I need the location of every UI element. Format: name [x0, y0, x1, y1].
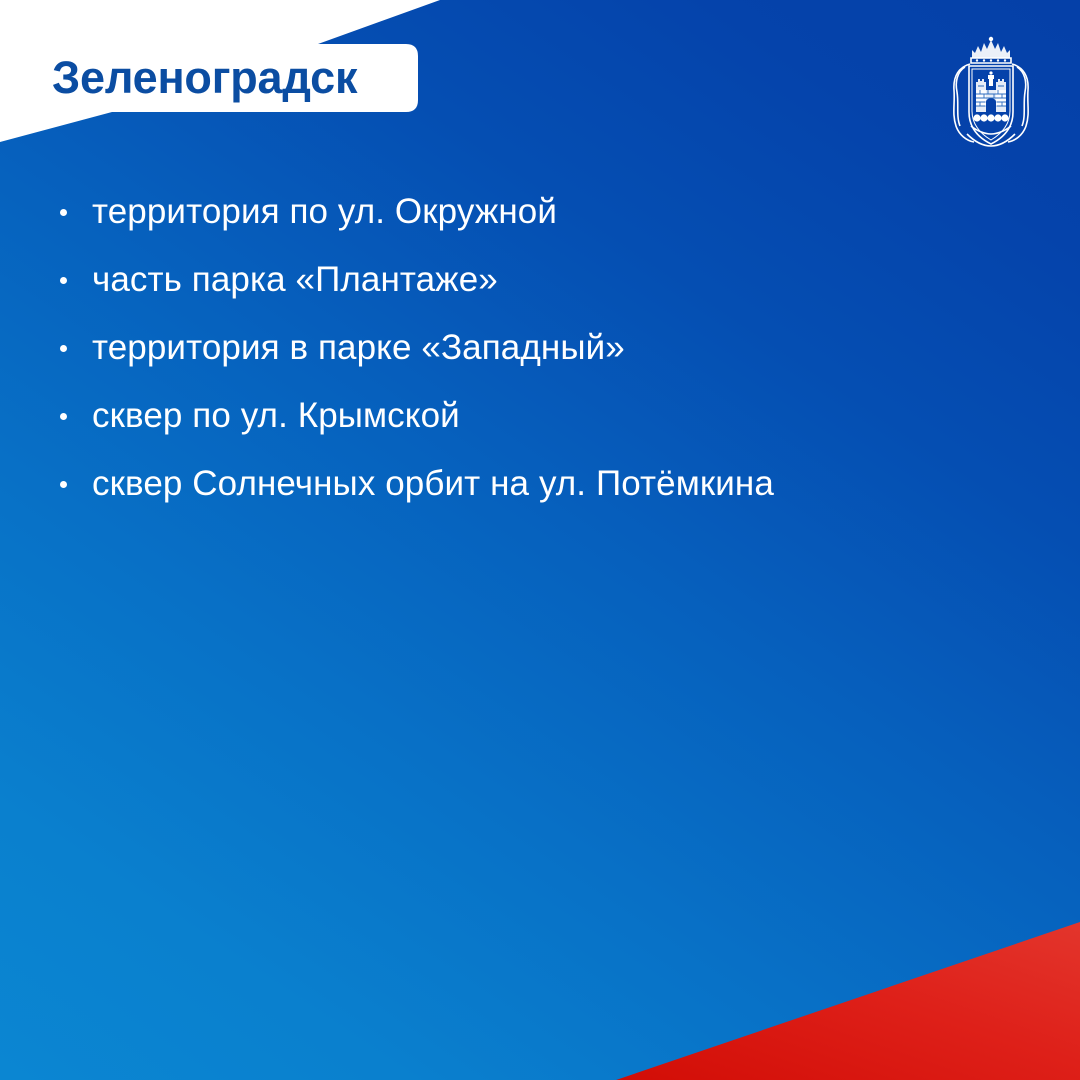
list-item: сквер Солнечных орбит на ул. Потёмкина	[52, 450, 1032, 518]
bullet-dot-icon	[60, 345, 67, 352]
bullet-dot-icon	[60, 209, 67, 216]
list-item-label: территория по ул. Окружной	[92, 192, 557, 232]
coat-of-arms-icon	[941, 34, 1041, 156]
bullet-dot-icon	[60, 413, 67, 420]
list-item-label: территория в парке «Западный»	[92, 328, 625, 368]
list-item-label: сквер по ул. Крымской	[92, 396, 460, 436]
bullet-dot-icon	[60, 481, 67, 488]
bullet-list: территория по ул. Окружной часть парка «…	[52, 178, 1032, 518]
background-gradient	[0, 0, 1080, 1080]
list-item: сквер по ул. Крымской	[52, 382, 1032, 450]
list-item: территория в парке «Западный»	[52, 314, 1032, 382]
list-item-label: сквер Солнечных орбит на ул. Потёмкина	[92, 464, 774, 504]
slide-canvas: Зеленоградск	[0, 0, 1080, 1080]
list-item: часть парка «Плантаже»	[52, 246, 1032, 314]
bullet-dot-icon	[60, 277, 67, 284]
list-item-label: часть парка «Плантаже»	[92, 260, 498, 300]
list-item: территория по ул. Окружной	[52, 178, 1032, 246]
page-title: Зеленоградск	[52, 47, 357, 109]
